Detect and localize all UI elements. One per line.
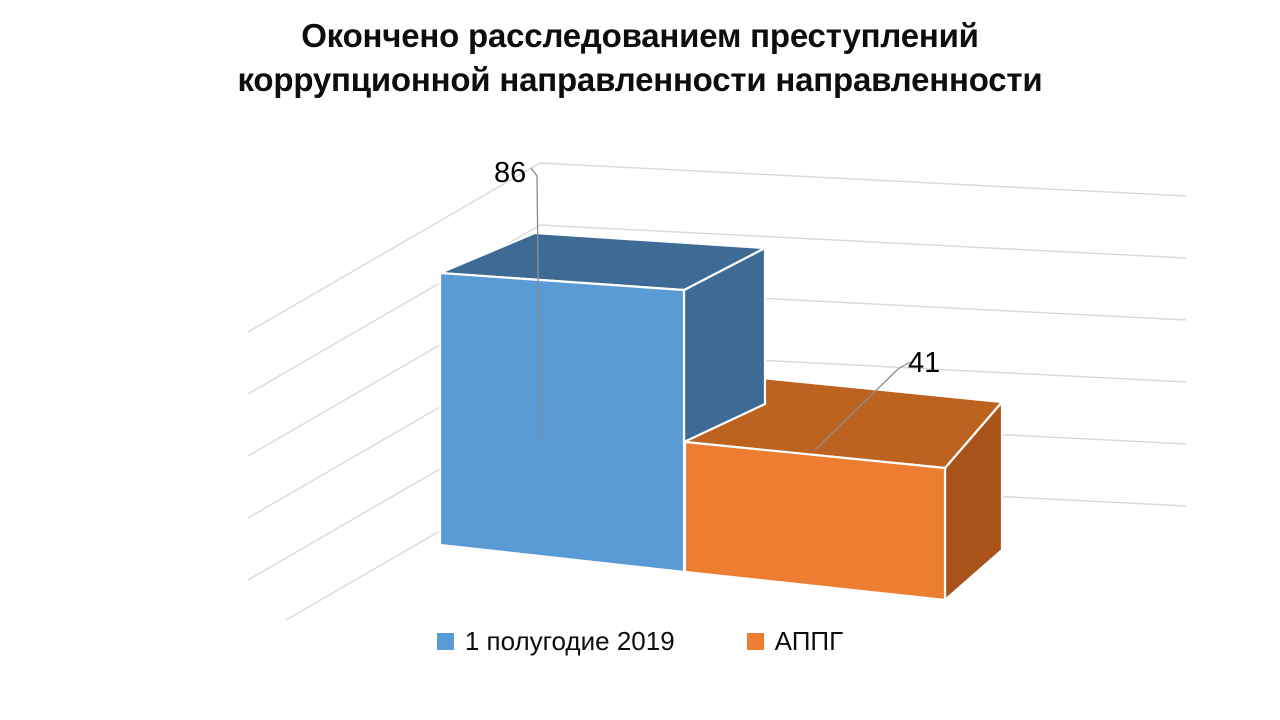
legend-item-appg[interactable]: АППГ — [747, 628, 844, 654]
bar-appg-front-face — [685, 442, 945, 600]
data-label-41: 41 — [908, 349, 940, 378]
legend-label-2019h1: 1 полугодие 2019 — [465, 628, 675, 654]
legend-item-2019h1[interactable]: 1 полугодие 2019 — [437, 628, 675, 654]
chart-title-line-1: Окончено расследованием преступлений — [0, 14, 1280, 58]
legend-label-appg: АППГ — [775, 628, 844, 654]
bar-2019h1-front-face — [440, 273, 684, 572]
chart-legend: 1 полугодие 2019 АППГ — [0, 628, 1280, 654]
chart-title: Окончено расследованием преступлений кор… — [0, 14, 1280, 102]
chart-plot-area — [0, 120, 1280, 620]
legend-swatch-icon-appg — [747, 633, 764, 650]
data-label-86: 86 — [494, 159, 526, 188]
chart-container: Окончено расследованием преступлений кор… — [0, 0, 1280, 720]
chart-title-line-2: коррупционной направленности направленно… — [0, 58, 1280, 102]
legend-swatch-icon-2019h1 — [437, 633, 454, 650]
